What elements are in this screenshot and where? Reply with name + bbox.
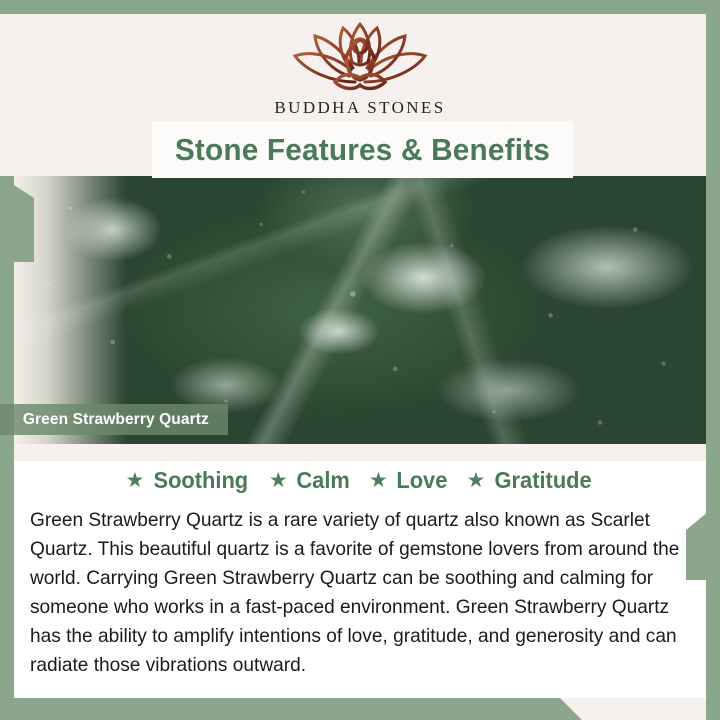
benefit-keywords: ★ Soothing ★ Calm ★ Love ★ Gratitude — [14, 467, 706, 494]
star-icon: ★ — [269, 470, 288, 491]
title-banner: Stone Features & Benefits — [152, 121, 573, 178]
photo-caption: Green Strawberry Quartz — [0, 404, 228, 435]
benefit-item-gratitude: ★ Gratitude — [467, 467, 595, 494]
benefit-item-soothing: ★ Soothing — [125, 467, 250, 494]
benefit-label: Soothing — [154, 467, 249, 494]
benefit-label: Calm — [296, 467, 349, 494]
photo-caption-label: Green Strawberry Quartz — [23, 411, 209, 429]
description-paragraph: Green Strawberry Quartz is a rare variet… — [30, 506, 688, 680]
star-icon: ★ — [467, 470, 486, 491]
star-icon: ★ — [369, 470, 388, 491]
benefit-label: Gratitude — [495, 467, 592, 494]
star-icon: ★ — [125, 470, 144, 491]
benefit-item-love: ★ Love — [369, 467, 449, 494]
brand-logo: BUDDHA STONES — [250, 20, 470, 118]
lotus-meditation-icon — [285, 20, 435, 94]
page-title: Stone Features & Benefits — [175, 132, 550, 168]
benefit-label: Love — [396, 467, 447, 494]
brand-name: BUDDHA STONES — [250, 98, 470, 118]
frame-top-border — [0, 0, 720, 14]
frame-right-border — [706, 0, 720, 720]
benefit-item-calm: ★ Calm — [269, 467, 351, 494]
frame-bottom-border — [0, 698, 720, 720]
body-panel: ★ Soothing ★ Calm ★ Love ★ Gratitude Gre… — [14, 461, 706, 698]
infographic-page: BUDDHA STONES Stone Features & Benefits … — [0, 0, 720, 720]
